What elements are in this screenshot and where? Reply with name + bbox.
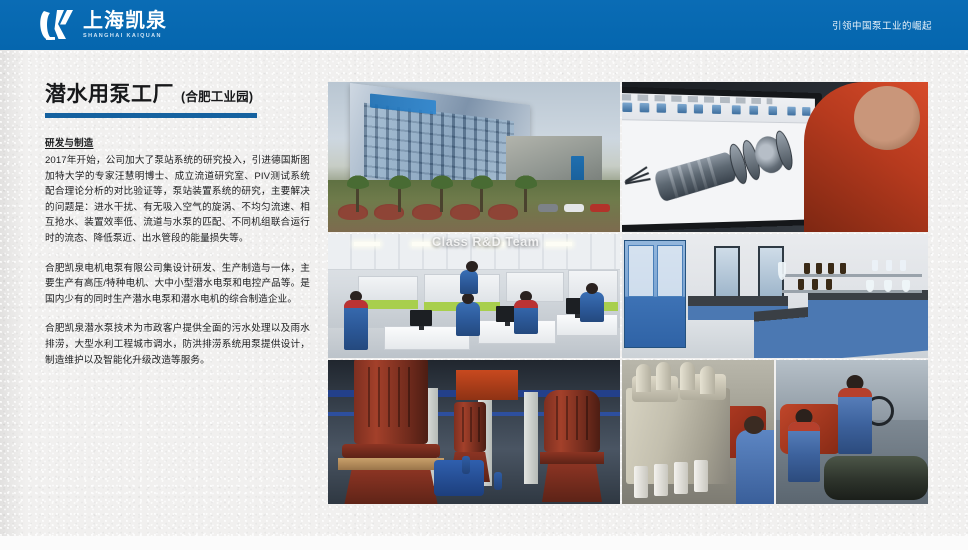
reagent-bottle [798,279,804,290]
shrub [450,204,480,220]
oil-filter [654,464,668,496]
hall-column [524,392,538,484]
exhaust-manifold-pipe [656,362,671,390]
exhaust-manifold-pipe [636,364,651,392]
pump-suction-bell [344,470,438,504]
reagent-bottle [840,263,846,274]
palm-tree [440,182,443,212]
body-paragraph: 合肥凯泉电机电泵有限公司集设计研发、生产制造与一体，主要生产有高压/特种电机、大… [45,261,310,308]
worker-crouching [788,422,820,482]
large-submersible-pumps-photo[interactable] [328,360,620,504]
brand-logo-text: 上海凯泉 SHANGHAI KAIQUAN [83,11,167,40]
factory-building-photo[interactable] [328,82,620,232]
text-column: 潜水用泵工厂 (合肥工业园) 研发与制造 2017年开始，公司加大了泵站系统的研… [45,82,310,368]
brand-name-en: SHANGHAI KAIQUAN [83,32,167,40]
palm-tree [480,182,483,212]
exhaust-manifold-pipe [700,366,715,394]
body-paragraph: 2017年开始，公司加大了泵站系统的研究投入，引进德国斯图加特大学的专家汪慧明博… [45,153,310,247]
exhaust-manifold-pipe [680,362,695,390]
slide-root: 上海凯泉 SHANGHAI KAIQUAN 引领中国泵工业的崛起 潜水用泵工厂 … [0,0,968,550]
pump-motor-housing [544,390,600,452]
oil-filter [674,462,688,494]
blue-test-equipment [434,460,484,496]
engineer-head [854,86,920,150]
cad-software-ribbon-toolbar [622,93,815,124]
pump-flange [342,444,440,458]
desktop-monitor [410,310,432,326]
page-title-sub: (合肥工业园) [181,86,253,105]
diesel-engine-assembly-photo[interactable] [622,360,774,504]
pump-suction-bell [542,464,602,502]
kaiquan-mark-icon [38,7,76,43]
body-paragraph: 合肥凯泉潜水泵技术为市政客户提供全面的污水处理以及雨水排涝，大型水利工程城市调水… [45,321,310,368]
section-heading: 研发与制造 [45,135,310,149]
lab-side-bench [808,290,928,320]
pump-gasket [338,458,444,470]
reagent-bottle [886,260,892,271]
reagent-bottle [826,279,832,290]
reagent-shelf [782,274,922,277]
reagent-bottle [828,263,834,274]
brand-logo[interactable]: 上海凯泉 SHANGHAI KAIQUAN [38,7,167,43]
reagent-shelf [782,290,922,293]
reagent-bottle [900,260,906,271]
reagent-bottle [804,263,810,274]
reagent-bottle [816,263,822,274]
rd-team-office-photo[interactable]: Class R&D Team [328,234,620,358]
header-slogan: 引领中国泵工业的崛起 [832,0,932,50]
office-worker [514,300,538,334]
pump-motor-housing [354,360,428,444]
pump-motor-housing [454,402,486,452]
glass-flask [902,280,910,292]
page-title-main: 潜水用泵工厂 [45,82,174,108]
page-title: 潜水用泵工厂 (合肥工业园) [45,82,310,108]
testing-laboratory-photo[interactable] [622,234,928,358]
reagent-bottle [872,260,878,271]
office-worker [460,270,478,294]
ceiling-light [546,242,572,246]
worker-standing [838,388,872,454]
ceiling-light [354,242,380,246]
worker-uniform-shoulder [838,388,872,397]
shrub [488,204,518,220]
glass-flask [866,280,874,292]
office-worker [580,292,604,322]
factory-worker [494,472,502,490]
pump-shaft-assembly [824,456,928,500]
office-worker [456,302,480,336]
office-worker [344,300,368,350]
lab-window [714,246,740,298]
palm-tree [524,182,527,212]
monitor-screen [622,93,815,225]
office-partition [506,272,564,302]
slide-bottom-band [0,536,968,550]
monitor-bezel [622,86,822,231]
title-underline-rule [45,113,257,118]
glass-flask [884,280,892,292]
parked-car [538,204,558,212]
photo-caption: Class R&D Team [432,235,540,249]
factory-worker [462,456,470,474]
reagent-bottle [812,279,818,290]
page-header: 上海凯泉 SHANGHAI KAIQUAN 引领中国泵工业的崛起 [0,0,968,50]
parked-car [590,204,610,212]
office-partition [358,276,418,302]
pump-3d-model [639,121,798,217]
worker-uniform-shoulder [788,422,820,431]
shrub [338,204,368,220]
shrub [412,204,442,220]
factory-worker [736,430,774,504]
crane-cab [456,370,518,400]
parked-car [564,204,584,212]
oil-filter [634,466,648,498]
palm-tree [398,182,401,212]
cad-design-workstation-photo[interactable] [622,82,928,232]
palm-tree [356,182,359,212]
lab-storage-cabinet [624,240,686,348]
glass-flask [778,262,786,280]
photo-gallery-grid: Class R&D Team [328,82,928,504]
pump-assembly-workers-photo[interactable] [776,360,928,504]
pump-flange [540,452,604,464]
brand-name-cn: 上海凯泉 [83,11,167,32]
oil-filter [694,460,708,492]
